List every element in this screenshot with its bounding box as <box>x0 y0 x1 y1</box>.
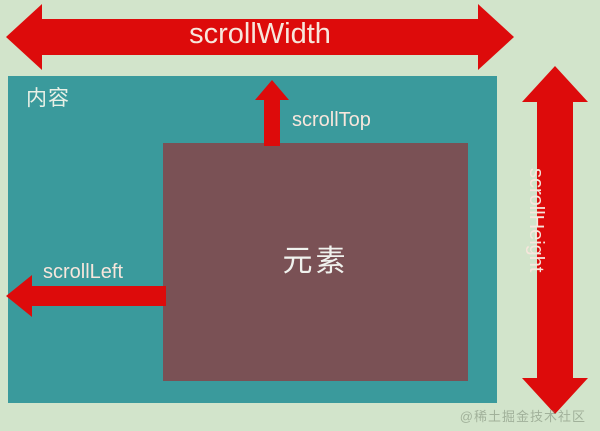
watermark: @稀土掘金技术社区 <box>460 406 586 425</box>
content-box-label: 内容 <box>26 88 70 109</box>
diagram-canvas: 内容 元素 scrollWidth scrollHeight scrollTop… <box>0 0 600 431</box>
element-box-label: 元素 <box>283 247 349 277</box>
element-box: 元素 <box>163 143 468 381</box>
scroll-width-label: scrollWidth <box>0 20 520 49</box>
arrow-up-icon <box>255 80 289 146</box>
scroll-left-label: scrollLeft <box>43 262 123 282</box>
scroll-height-label: scrollHeight <box>526 168 546 272</box>
scroll-top-label: scrollTop <box>292 110 371 130</box>
